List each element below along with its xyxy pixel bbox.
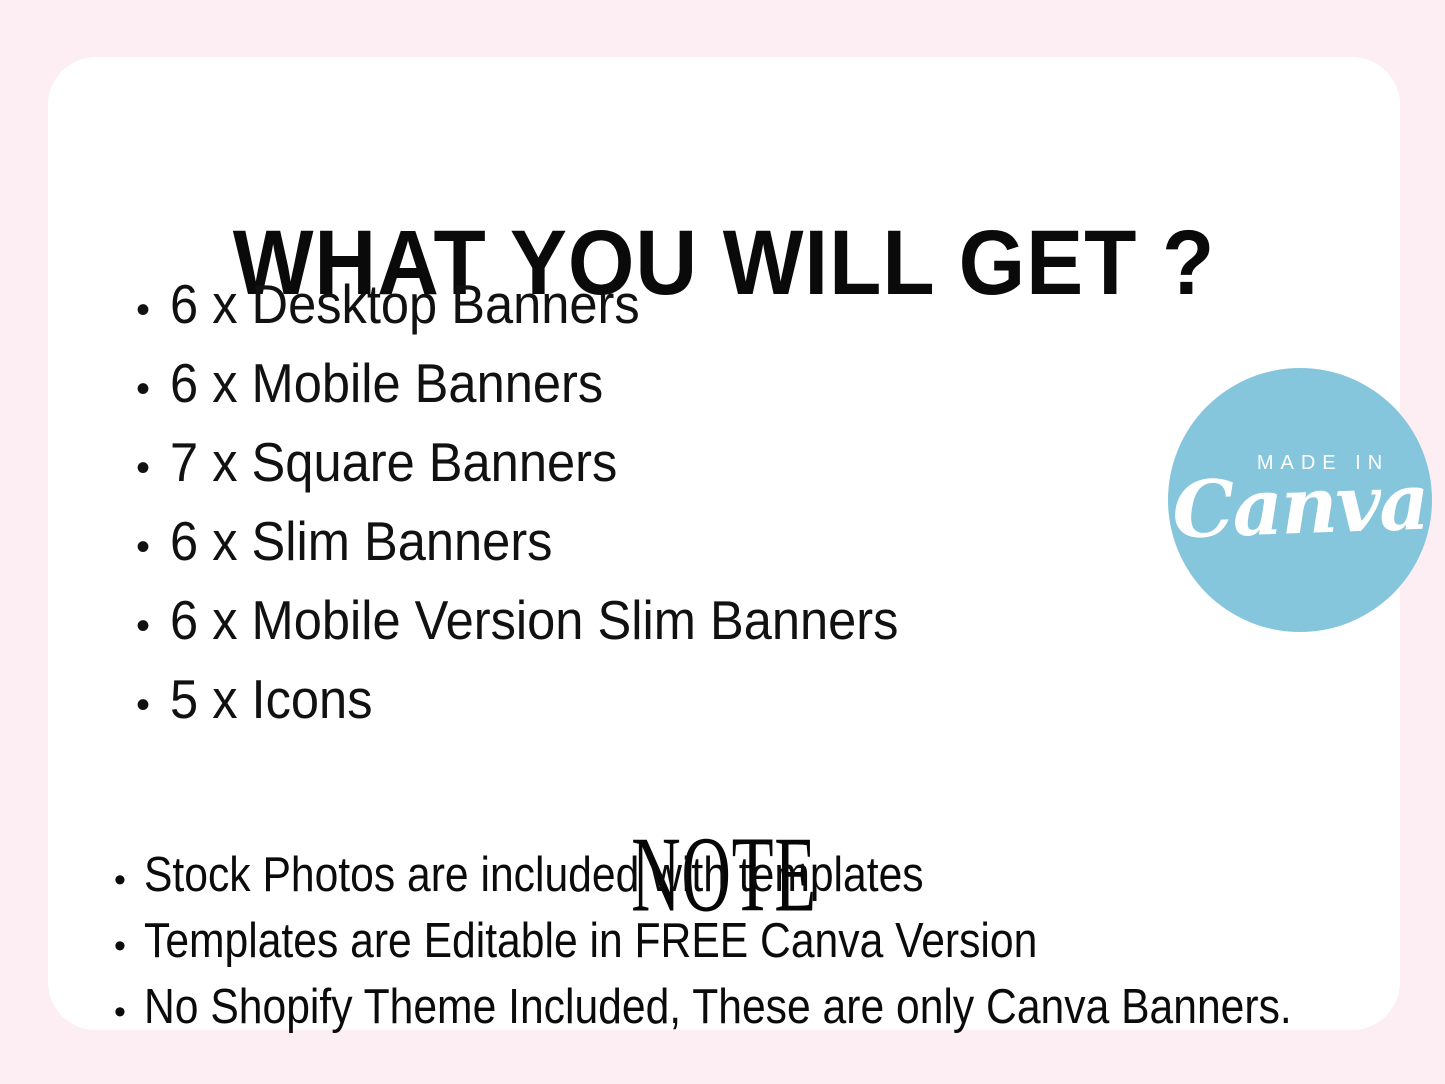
- slide-canvas: WHAT YOU WILL GET ? • 6 x Desktop Banner…: [0, 0, 1445, 1084]
- content-card: WHAT YOU WILL GET ? • 6 x Desktop Banner…: [48, 57, 1400, 1030]
- list-item: • No Shopify Theme Included, These are o…: [114, 974, 1445, 1040]
- list-item: • 6 x Slim Banners: [136, 502, 962, 581]
- list-item: • Stock Photos are included with templat…: [114, 842, 1445, 908]
- deliverables-list: • 6 x Desktop Banners • 6 x Mobile Banne…: [136, 265, 962, 739]
- bullet-icon: •: [136, 666, 170, 745]
- badge-brand-label: Canva: [1167, 463, 1434, 550]
- bullet-icon: •: [114, 979, 144, 1045]
- list-item: • 7 x Square Banners: [136, 423, 962, 502]
- list-item: • Templates are Editable in FREE Canva V…: [114, 908, 1445, 974]
- list-item: • 5 x Icons: [136, 660, 962, 739]
- deliverable-label: 6 x Mobile Banners: [170, 344, 603, 423]
- bullet-icon: •: [136, 350, 170, 429]
- bullet-icon: •: [136, 429, 170, 508]
- made-in-canva-badge: MADE IN Canva: [1168, 368, 1432, 632]
- list-item: • 6 x Mobile Version Slim Banners: [136, 581, 962, 660]
- bullet-icon: •: [114, 847, 144, 913]
- deliverable-label: 6 x Mobile Version Slim Banners: [170, 581, 898, 660]
- deliverable-label: 6 x Slim Banners: [170, 502, 552, 581]
- note-list: • Stock Photos are included with templat…: [114, 842, 1445, 1040]
- deliverable-label: 6 x Desktop Banners: [170, 265, 640, 344]
- note-label: Templates are Editable in FREE Canva Ver…: [144, 908, 1037, 974]
- bullet-icon: •: [114, 913, 144, 979]
- list-item: • 6 x Mobile Banners: [136, 344, 962, 423]
- bullet-icon: •: [136, 271, 170, 350]
- note-label: Stock Photos are included with templates: [144, 842, 924, 908]
- list-item: • 6 x Desktop Banners: [136, 265, 962, 344]
- bullet-icon: •: [136, 587, 170, 666]
- note-label: No Shopify Theme Included, These are onl…: [144, 974, 1292, 1040]
- bullet-icon: •: [136, 508, 170, 587]
- deliverable-label: 5 x Icons: [170, 660, 373, 739]
- deliverable-label: 7 x Square Banners: [170, 423, 617, 502]
